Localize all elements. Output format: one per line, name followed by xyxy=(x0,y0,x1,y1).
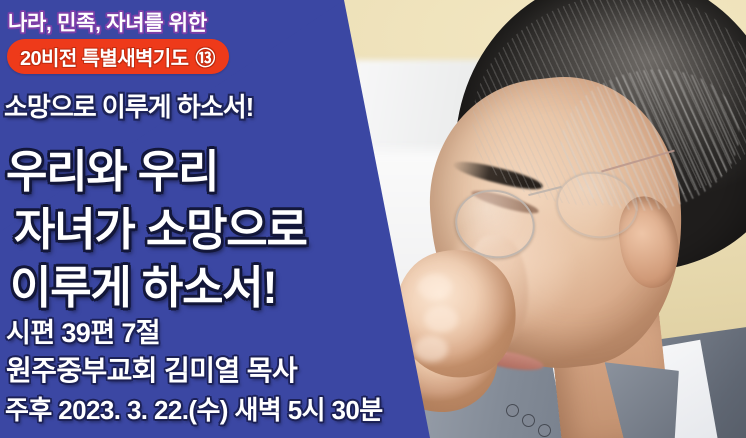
knuckle-highlight xyxy=(414,336,448,362)
poster-canvas: 나라, 민족, 자녀를 위한 20비전 특별새벽기도 ⑬ 소망으로 이루게 하소… xyxy=(0,0,746,438)
speaker-name: 원주중부교회 김미열 목사 xyxy=(6,349,297,389)
title-line-2: 자녀가 소망으로 xyxy=(14,193,307,258)
series-badge-number: ⑬ xyxy=(195,42,214,71)
title-line-3: 이루게 하소서! xyxy=(10,251,276,316)
series-badge: 20비전 특별새벽기도 ⑬ xyxy=(7,39,229,74)
scripture-reference: 시편 39편 7절 xyxy=(6,311,160,350)
title-line-1: 우리와 우리 xyxy=(6,135,218,200)
knuckle-highlight xyxy=(418,274,452,300)
series-badge-label: 20비전 특별새벽기도 xyxy=(20,42,188,71)
service-schedule: 주후 2023. 3. 22.(수) 새벽 5시 30분 xyxy=(5,390,383,427)
top-tagline: 나라, 민족, 자녀를 위한 xyxy=(8,7,207,37)
subheading: 소망으로 이루게 하소서! xyxy=(4,87,253,124)
knuckle-highlight xyxy=(424,306,458,332)
